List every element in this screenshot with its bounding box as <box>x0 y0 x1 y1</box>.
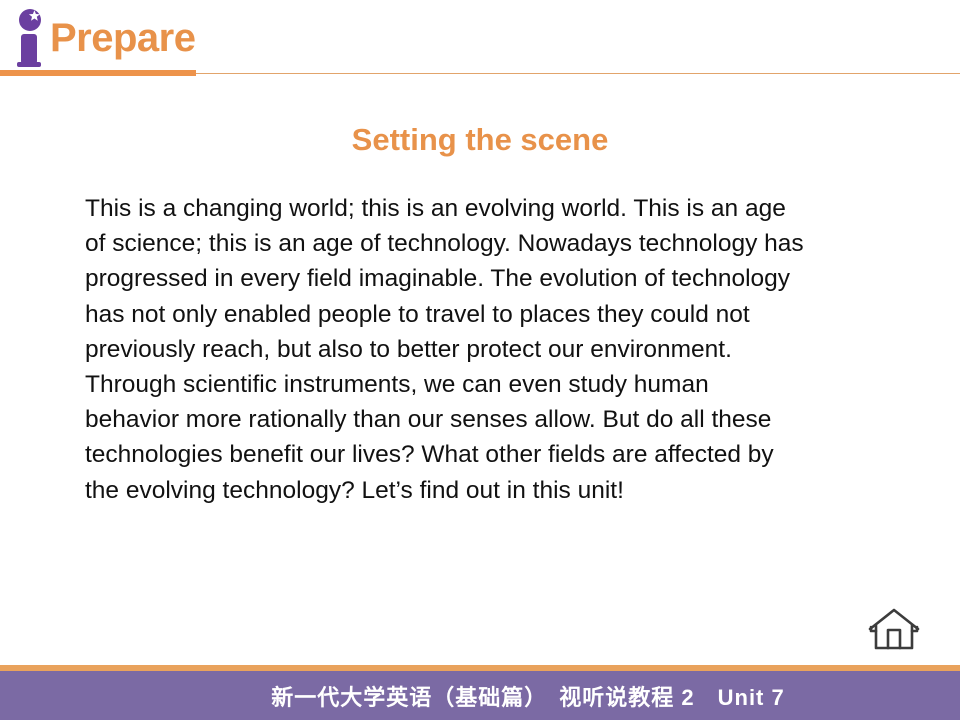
globe-star-icon <box>18 8 42 32</box>
body-line: has not only enabled people to travel to… <box>85 297 875 332</box>
body-paragraph: This is a changing world; this is an evo… <box>85 191 875 508</box>
home-icon[interactable] <box>866 606 922 654</box>
slide-canvas: Prepare Setting the scene This is a chan… <box>0 0 960 720</box>
body-line: the evolving technology? Let’s find out … <box>85 473 875 508</box>
page-title: Setting the scene <box>0 122 960 158</box>
body-line: Through scientific instruments, we can e… <box>85 367 875 402</box>
brand-i-stem <box>21 34 37 67</box>
body-line: technologies benefit our lives? What oth… <box>85 437 875 472</box>
body-line: This is a changing world; this is an evo… <box>85 191 875 226</box>
brand-logo: Prepare <box>14 6 195 68</box>
header-divider-thick <box>0 70 196 76</box>
body-line: of science; this is an age of technology… <box>85 226 875 261</box>
body-line: progressed in every field imaginable. Th… <box>85 261 875 296</box>
body-line: previously reach, but also to better pro… <box>85 332 875 367</box>
brand-word: Prepare <box>50 16 195 60</box>
brand-letter-i <box>14 6 48 68</box>
body-line: behavior more rationally than our senses… <box>85 402 875 437</box>
footer-label: 新一代大学英语（基础篇） 视听说教程 2 Unit 7 <box>0 671 960 720</box>
slide-header: Prepare <box>0 0 960 78</box>
